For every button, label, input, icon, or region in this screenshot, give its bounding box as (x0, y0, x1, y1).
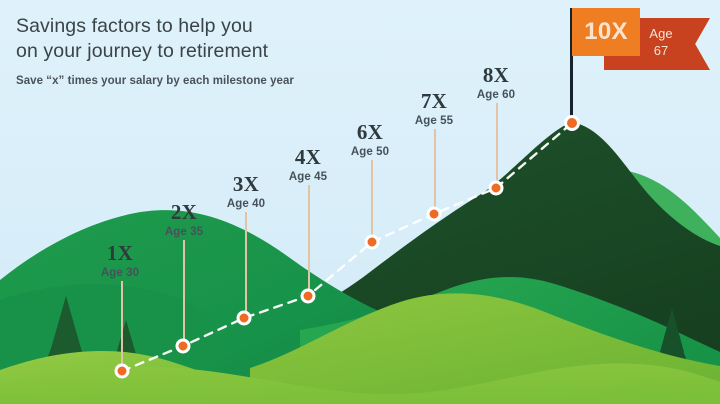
milestone-age: Age 40 (227, 197, 265, 211)
milestone-label-4x: 4X Age 45 (289, 147, 327, 184)
milestone-age: Age 55 (415, 114, 453, 128)
leader-line-1 (121, 281, 123, 364)
milestone-age: Age 60 (477, 88, 515, 102)
milestone-factor: 1X (101, 243, 139, 264)
milestone-dot-3x (237, 311, 252, 326)
milestone-dot-2x (176, 339, 191, 354)
milestone-label-6x: 6X Age 50 (351, 122, 389, 159)
leader-line-3 (245, 212, 247, 311)
milestone-age: Age 35 (165, 225, 203, 239)
flag-factor-label: 10X (572, 8, 640, 56)
leader-line-2 (183, 240, 185, 339)
milestone-factor: 6X (351, 122, 389, 143)
milestone-label-3x: 3X Age 40 (227, 174, 265, 211)
milestone-dot-1x (115, 364, 130, 379)
milestone-factor: 2X (165, 202, 203, 223)
milestone-factor: 8X (477, 65, 515, 86)
milestone-dot-7x (427, 207, 442, 222)
milestone-age: Age 50 (351, 145, 389, 159)
milestone-age: Age 45 (289, 170, 327, 184)
milestone-label-1x: 1X Age 30 (101, 243, 139, 280)
infographic-canvas: Savings factors to help you on your jour… (0, 0, 720, 404)
milestone-label-7x: 7X Age 55 (415, 91, 453, 128)
milestone-dot-8x (489, 181, 504, 196)
header-block: Savings factors to help you on your jour… (16, 14, 436, 87)
milestone-label-8x: 8X Age 60 (477, 65, 515, 102)
leader-line-6 (434, 129, 436, 207)
leader-line-7 (496, 103, 498, 181)
milestone-factor: 7X (415, 91, 453, 112)
leader-line-4 (308, 185, 310, 289)
milestone-factor: 4X (289, 147, 327, 168)
milestone-label-2x: 2X Age 35 (165, 202, 203, 239)
milestone-dot-4x (301, 289, 316, 304)
page-subtitle: Save “x” times your salary by each miles… (16, 75, 436, 87)
page-title: Savings factors to help you on your jour… (16, 14, 436, 64)
milestone-dot-10x (564, 115, 580, 131)
milestone-factor: 3X (227, 174, 265, 195)
milestone-dot-6x (365, 235, 380, 250)
leader-line-5 (371, 160, 373, 235)
milestone-age: Age 30 (101, 266, 139, 280)
